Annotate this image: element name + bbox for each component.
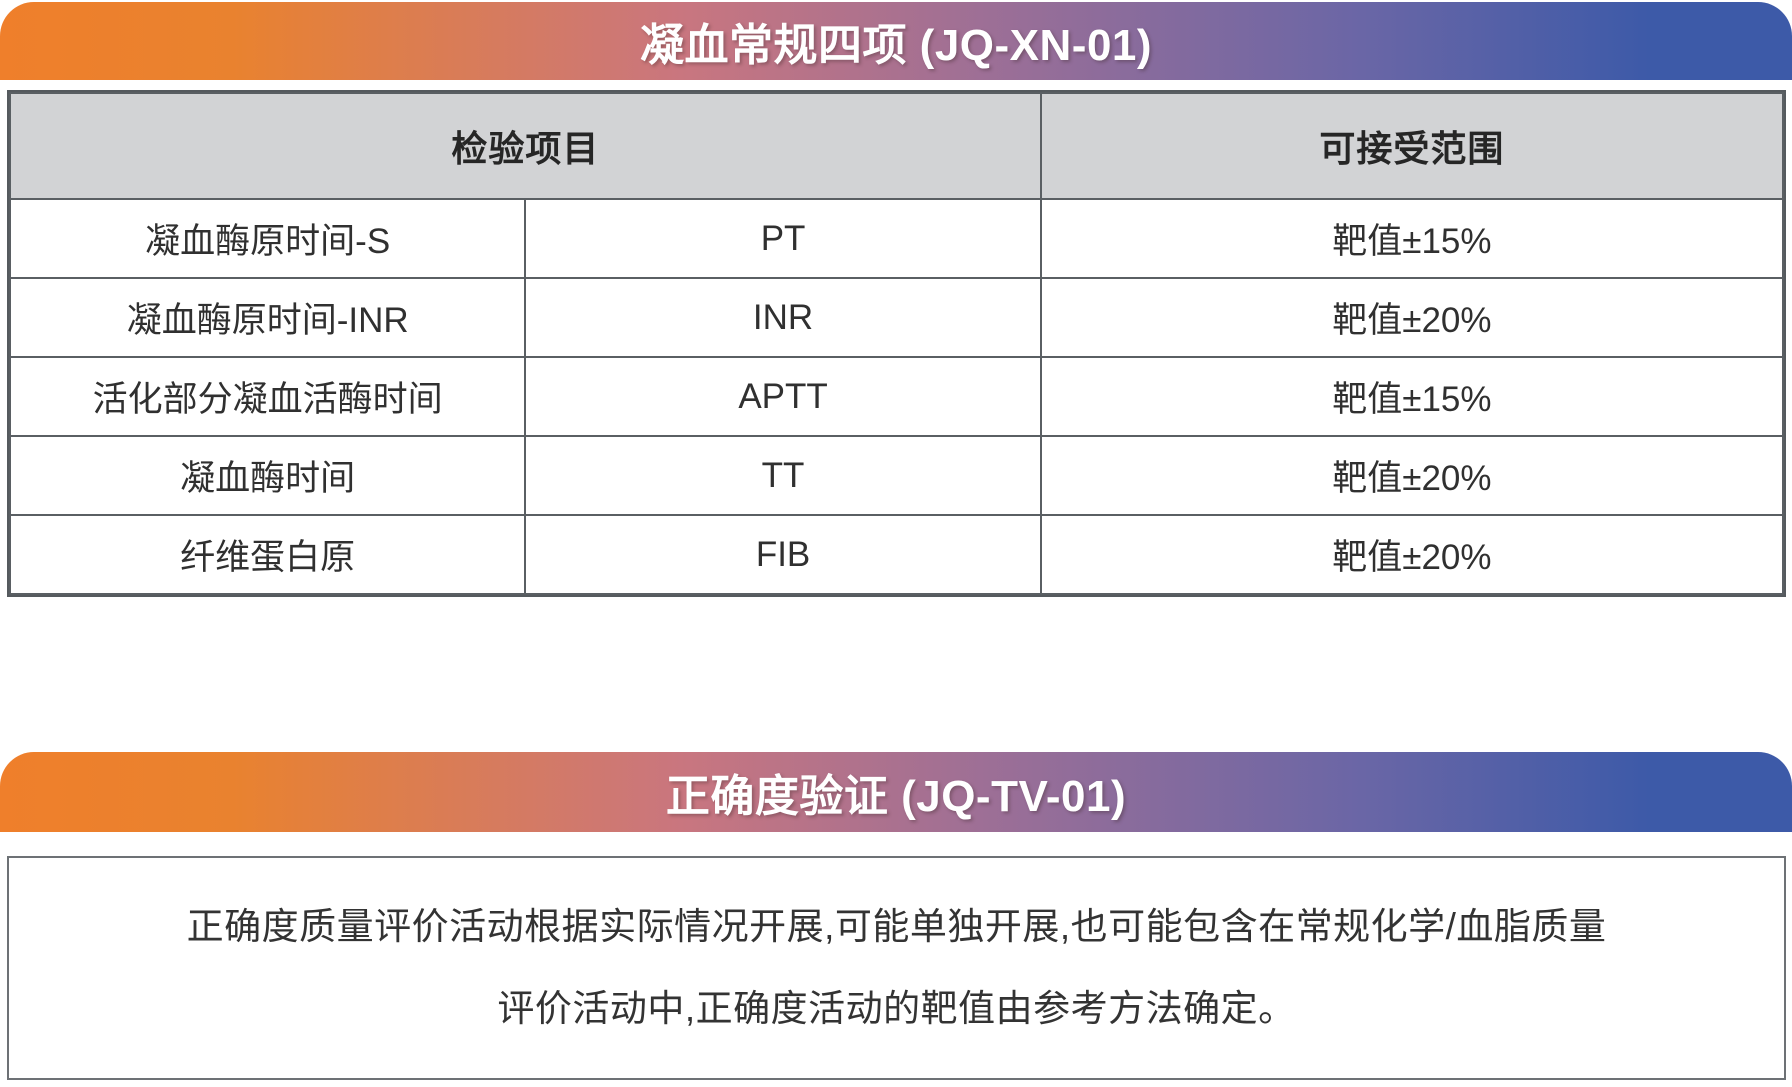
table-header-row: 检验项目 可接受范围	[10, 93, 1783, 199]
cell-test-abbr: TT	[525, 436, 1040, 515]
section-two-banner: 正确度验证 (JQ-TV-01)	[0, 752, 1792, 832]
column-header-test-item: 检验项目	[10, 93, 1041, 199]
table-body: 凝血酶原时间-S PT 靶值±15% 凝血酶原时间-INR INR 靶值±20%…	[10, 199, 1783, 594]
table-row: 凝血酶原时间-INR INR 靶值±20%	[10, 278, 1783, 357]
cell-test-range: 靶值±20%	[1041, 515, 1783, 594]
section-one-banner: 凝血常规四项 (JQ-XN-01)	[0, 2, 1792, 80]
cell-test-name: 凝血酶时间	[10, 436, 525, 515]
accuracy-verification-note: 正确度质量评价活动根据实际情况开展,可能单独开展,也可能包含在常规化学/血脂质量…	[7, 856, 1786, 1080]
table-head: 检验项目 可接受范围	[10, 93, 1783, 199]
section-one-title: 凝血常规四项 (JQ-XN-01)	[640, 9, 1152, 73]
cell-test-range: 靶值±15%	[1041, 357, 1783, 436]
cell-test-name: 凝血酶原时间-INR	[10, 278, 525, 357]
table-row: 凝血酶原时间-S PT 靶值±15%	[10, 199, 1783, 278]
column-header-acceptable-range: 可接受范围	[1041, 93, 1783, 199]
cell-test-range: 靶值±20%	[1041, 278, 1783, 357]
note-line: 评价活动中,正确度活动的靶值由参考方法确定。	[497, 968, 1295, 1050]
table-row: 纤维蛋白原 FIB 靶值±20%	[10, 515, 1783, 594]
cell-test-range: 靶值±15%	[1041, 199, 1783, 278]
table-row: 凝血酶时间 TT 靶值±20%	[10, 436, 1783, 515]
cell-test-abbr: INR	[525, 278, 1040, 357]
cell-test-abbr: APTT	[525, 357, 1040, 436]
note-line: 正确度质量评价活动根据实际情况开展,可能单独开展,也可能包含在常规化学/血脂质量	[187, 886, 1607, 968]
cell-test-name: 活化部分凝血活酶时间	[10, 357, 525, 436]
table-row: 活化部分凝血活酶时间 APTT 靶值±15%	[10, 357, 1783, 436]
section-two-title: 正确度验证 (JQ-TV-01)	[666, 760, 1126, 824]
coagulation-panel-table: 检验项目 可接受范围 凝血酶原时间-S PT 靶值±15% 凝血酶原时间-INR…	[7, 90, 1786, 597]
cell-test-name: 凝血酶原时间-S	[10, 199, 525, 278]
cell-test-abbr: PT	[525, 199, 1040, 278]
cell-test-range: 靶值±20%	[1041, 436, 1783, 515]
cell-test-abbr: FIB	[525, 515, 1040, 594]
cell-test-name: 纤维蛋白原	[10, 515, 525, 594]
data-table: 检验项目 可接受范围 凝血酶原时间-S PT 靶值±15% 凝血酶原时间-INR…	[9, 92, 1784, 595]
